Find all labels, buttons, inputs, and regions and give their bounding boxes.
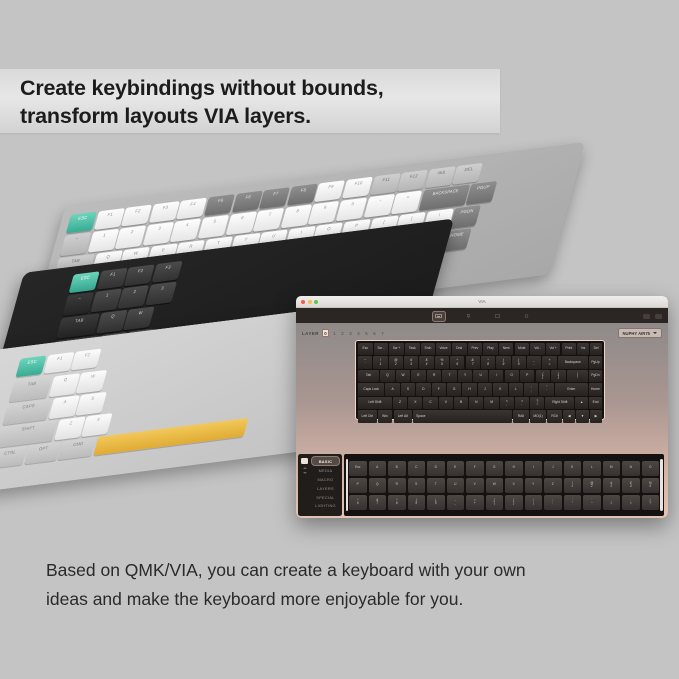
expand-button[interactable] (655, 314, 662, 319)
via-body: LAYER 0 1 2 3 4 5 6 7 NUPHY AIR75 Esc Sc… (296, 323, 668, 518)
pkey-y[interactable]: Y (525, 478, 543, 493)
key-9: 9 (308, 201, 340, 225)
key-tab-front: TAB (9, 377, 53, 403)
picker-row-1: Esc A B C D E F G H I J K L M N O (349, 461, 659, 476)
vkey-right-alt[interactable]: RAlt (513, 410, 529, 422)
vkey-u[interactable]: U (473, 370, 487, 382)
key-f6: F6 (231, 191, 262, 213)
via-sidebar[interactable]: BASIC MEDIA MACRO LAYERS SPECIAL LIGHTIN… (298, 454, 342, 516)
pkey-period[interactable]: .> (622, 495, 640, 510)
pkey-quote[interactable]: '" (564, 495, 582, 510)
chevron-down-icon (653, 332, 657, 334)
pkey-q[interactable]: Q (369, 478, 387, 493)
key-a-front: A (48, 395, 80, 419)
key-4: 4 (170, 218, 202, 242)
caption-line-2: ideas and make the keyboard more enjoyab… (46, 585, 646, 614)
caption-text: Based on QMK/VIA, you can create a keybo… (46, 556, 646, 614)
sidebar-item-basic[interactable]: BASIC (311, 456, 340, 466)
key-1-black: 1 (90, 289, 122, 313)
key-esc-front: ESC (15, 355, 46, 377)
vkey-7[interactable]: &7 (466, 356, 480, 368)
via-toolbar (296, 308, 668, 324)
pkey-r[interactable]: R (388, 478, 406, 493)
window-title: VIA (296, 299, 668, 304)
vkey-del[interactable]: Del (590, 343, 602, 355)
vkey-w[interactable]: W (396, 370, 410, 382)
vkey-backslash[interactable]: |\ (567, 370, 588, 382)
vkb-row-bottom: Left Ctrl Win Left Alt Space RAlt MO(1) … (358, 410, 602, 422)
key-ctrl-front: CTRL (0, 446, 27, 469)
key-space-front (93, 418, 248, 456)
vkey-pgdn[interactable]: PgDn (589, 370, 602, 382)
pkey-p[interactable]: P (349, 478, 367, 493)
vkey-6[interactable]: ^6 (450, 356, 464, 368)
key-2-black: 2 (117, 285, 149, 309)
pkey-f[interactable]: F (466, 461, 484, 476)
lightbulb-icon[interactable] (463, 312, 475, 321)
keyboard-select-dropdown[interactable]: NUPHY AIR75 (618, 328, 662, 338)
vkey-z[interactable]: Z (393, 397, 407, 409)
vkey-esc[interactable]: Esc (358, 343, 373, 355)
vkey-2[interactable]: @2 (389, 356, 403, 368)
vkey-task[interactable]: Task (405, 343, 420, 355)
vkey-end[interactable]: End (589, 397, 602, 409)
layer-option-2[interactable]: 2 (340, 330, 345, 336)
vkey-backspace[interactable]: Backspace (558, 356, 588, 368)
picker-row-2: P Q R S T U V W X Y Z !1 @2 #3 $4 %5 (349, 478, 659, 493)
vkey-f[interactable]: F (432, 383, 446, 395)
minimize-button[interactable] (643, 314, 650, 319)
keyboard-select-value: NUPHY AIR75 (623, 331, 650, 336)
layer-option-1[interactable]: 1 (332, 330, 337, 336)
pkey-x[interactable]: X (505, 478, 523, 493)
sidebar-rail (300, 456, 309, 514)
pkey-7[interactable]: &7 (369, 495, 387, 510)
pkey-m[interactable]: M (603, 461, 621, 476)
vkey-k[interactable]: K (493, 383, 507, 395)
keyboard-icon[interactable] (432, 311, 446, 322)
picker-row-3: ^6 &7 *8 (9 )0 -_ =+ [{ ]} \| ;: '" `~ ,… (349, 495, 659, 510)
pkey-semicolon[interactable]: ;: (544, 495, 562, 510)
via-titlebar: VIA (296, 296, 668, 308)
caption-line-1: Based on QMK/VIA, you can create a keybo… (46, 556, 646, 585)
picker-scroll-left[interactable] (346, 459, 348, 511)
key-5: 5 (198, 215, 230, 239)
vkey-home[interactable]: Home (589, 383, 602, 395)
vkey-tilde[interactable]: ~` (358, 356, 372, 368)
pkey-0[interactable]: )0 (427, 495, 445, 510)
vkey-prev[interactable]: Prev (468, 343, 483, 355)
vkey-g[interactable]: G (447, 383, 461, 395)
pkey-z[interactable]: Z (544, 478, 562, 493)
pkey-o[interactable]: O (642, 461, 660, 476)
vkey-ins[interactable]: Ins (577, 343, 589, 355)
vkey-rbracket[interactable]: }] (551, 370, 565, 382)
layer-option-3[interactable]: 3 (348, 330, 353, 336)
vkey-minus[interactable]: _- (527, 356, 541, 368)
layer-option-0[interactable]: 0 (322, 329, 329, 337)
vkey-h[interactable]: H (462, 383, 476, 395)
key-ins: INS (425, 166, 456, 188)
vkey-quote[interactable]: "' (539, 383, 553, 395)
key-s-front: S (75, 392, 107, 416)
pkey-esc[interactable]: Esc (349, 461, 367, 476)
key-f11: F11 (369, 173, 400, 195)
vkey-enter[interactable]: Enter (555, 383, 588, 395)
vkey-srch[interactable]: Srch (421, 343, 436, 355)
sidebar-item-special[interactable]: SPECIAL (311, 493, 340, 501)
vkey-c[interactable]: C (423, 397, 437, 409)
vkey-right-arrow[interactable]: ▶ (590, 410, 602, 422)
key-q-black: Q (96, 310, 128, 334)
pkey-u[interactable]: U (447, 478, 465, 493)
key-7: 7 (253, 208, 285, 232)
sidebar-item-lighting[interactable]: LIGHTING (311, 502, 340, 510)
pkey-lbracket[interactable]: [{ (486, 495, 504, 510)
pkey-v[interactable]: V (466, 478, 484, 493)
pkey-a[interactable]: A (369, 461, 387, 476)
vkb-row-home: Caps Lock A S D F G H J K L :; "' Enter … (358, 383, 602, 395)
vkey-5[interactable]: %5 (435, 356, 449, 368)
key-8: 8 (280, 204, 312, 228)
pkey-8[interactable]: *8 (388, 495, 406, 510)
pkey-minus[interactable]: -_ (447, 495, 465, 510)
pkey-6[interactable]: ^6 (349, 495, 367, 510)
vkey-tab[interactable]: Tab (358, 370, 379, 382)
vkey-e[interactable]: E (411, 370, 425, 382)
key-opt-front: OPT (24, 442, 61, 465)
key-f10: F10 (342, 177, 373, 199)
key-w-front: W (76, 370, 108, 394)
headline-line-1: Create keybindings without bounds, (20, 75, 490, 103)
vkey-win[interactable]: Win (378, 410, 393, 422)
pkey-4[interactable]: $4 (622, 478, 640, 493)
vkey-comma[interactable]: <, (500, 397, 514, 409)
layer-option-6[interactable]: 6 (372, 330, 377, 336)
vkb-row-shift: Left Shift Z X C V B N M <, >. ?/ Right … (358, 397, 602, 409)
vkey-j[interactable]: J (478, 383, 492, 395)
vkey-b[interactable]: B (454, 397, 468, 409)
vkey-period[interactable]: >. (515, 397, 529, 409)
virtual-keyboard[interactable]: Esc Scr - Scr + Task Srch Voice Dnd Prev… (355, 340, 605, 420)
vkey-left-alt[interactable]: Left Alt (394, 410, 413, 422)
layer-option-7[interactable]: 7 (380, 330, 385, 336)
key-f2-front: F2 (71, 348, 102, 370)
keyboard-tab-icon[interactable] (301, 458, 308, 464)
vkey-m[interactable]: M (484, 397, 498, 409)
vkey-p[interactable]: P (520, 370, 534, 382)
pkey-5[interactable]: %5 (642, 478, 660, 493)
key-f12: F12 (397, 170, 428, 192)
pkey-k[interactable]: K (564, 461, 582, 476)
key-f9: F9 (314, 180, 345, 202)
vkey-print[interactable]: Print (562, 343, 577, 355)
vkey-n[interactable]: N (469, 397, 483, 409)
vkey-play[interactable]: Play (483, 343, 498, 355)
vkey-4[interactable]: $4 (419, 356, 433, 368)
sidebar-item-macro[interactable]: MACRO (311, 476, 340, 484)
key-cmd-front: CMD (57, 437, 96, 460)
pkey-i[interactable]: I (525, 461, 543, 476)
key-equal: = (391, 190, 423, 214)
key-3-black: 3 (145, 282, 177, 306)
key-tab-black: TAB (56, 313, 100, 339)
vkey-vol-up[interactable]: Vol + (546, 343, 561, 355)
key-f3: F3 (149, 201, 180, 223)
vkey-left-arrow[interactable]: ◀ (563, 410, 575, 422)
pkey-g[interactable]: G (486, 461, 504, 476)
key-f7: F7 (259, 187, 290, 209)
vkey-lbracket[interactable]: {[ (536, 370, 550, 382)
vkey-caps-lock[interactable]: Caps Lock (358, 383, 384, 395)
pkey-rbracket[interactable]: ]} (505, 495, 523, 510)
pkey-c[interactable]: C (408, 461, 426, 476)
vkey-scr-up[interactable]: Scr + (389, 343, 404, 355)
pkey-backslash[interactable]: \| (525, 495, 543, 510)
key-z-front: Z (54, 417, 86, 441)
pkey-b[interactable]: B (388, 461, 406, 476)
key-f4: F4 (176, 198, 207, 220)
key-3: 3 (142, 222, 174, 246)
key-2: 2 (115, 225, 147, 249)
key-esc: ESC (66, 212, 97, 234)
vkey-l[interactable]: L (509, 383, 523, 395)
key-0: 0 (336, 197, 368, 221)
vkey-1[interactable]: !1 (373, 356, 387, 368)
key-pgdn: PGDN (450, 205, 482, 229)
pkey-d[interactable]: D (427, 461, 445, 476)
sidebar-menu: BASIC MEDIA MACRO LAYERS SPECIAL LIGHTIN… (309, 456, 340, 514)
key-f2: F2 (121, 205, 152, 227)
pkey-2[interactable]: @2 (583, 478, 601, 493)
vkey-equal[interactable]: += (542, 356, 556, 368)
pkey-w[interactable]: W (486, 478, 504, 493)
key-f5: F5 (204, 194, 235, 216)
vkey-next[interactable]: Next (499, 343, 514, 355)
via-app-window[interactable]: VIA LAYER 0 1 (296, 296, 668, 518)
vkey-up-arrow[interactable]: ▲ (575, 397, 588, 409)
vkey-i[interactable]: I (489, 370, 503, 382)
scroll-down-icon[interactable] (303, 472, 307, 474)
toolbar-right-buttons (643, 314, 662, 319)
vkey-o[interactable]: O (505, 370, 519, 382)
headline-text: Create keybindings without bounds, trans… (20, 75, 490, 131)
vkey-d[interactable]: D (416, 383, 430, 395)
key-minus: - (363, 194, 395, 218)
vkey-down-arrow[interactable]: ▼ (576, 410, 588, 422)
pkey-slash[interactable]: /? (642, 495, 660, 510)
key-6: 6 (225, 211, 257, 235)
vkey-s[interactable]: S (401, 383, 415, 395)
key-f2-black: F2 (124, 264, 155, 286)
vkey-3[interactable]: #3 (404, 356, 418, 368)
vkey-mo1[interactable]: MO(1) (530, 410, 546, 422)
vkey-mute[interactable]: Mute (515, 343, 530, 355)
pkey-3[interactable]: #3 (603, 478, 621, 493)
sidebar-item-layers[interactable]: LAYERS (311, 484, 340, 492)
vkey-dnd[interactable]: Dnd (452, 343, 467, 355)
vkey-a[interactable]: A (385, 383, 399, 395)
vkey-left-shift[interactable]: Left Shift (358, 397, 392, 409)
key-f3-black: F3 (151, 261, 182, 283)
key-f1-black: F1 (96, 268, 127, 290)
vkey-r[interactable]: R (427, 370, 441, 382)
pkey-n[interactable]: N (622, 461, 640, 476)
pkey-grave[interactable]: `~ (583, 495, 601, 510)
vkey-v[interactable]: V (439, 397, 453, 409)
layer-option-4[interactable]: 4 (356, 330, 361, 336)
settings-icon[interactable] (521, 312, 533, 321)
pkey-1[interactable]: !1 (564, 478, 582, 493)
vkey-right-ctrl[interactable]: RCtl (547, 410, 562, 422)
pkey-h[interactable]: H (505, 461, 523, 476)
vkey-t[interactable]: T (442, 370, 456, 382)
vkey-y[interactable]: Y (458, 370, 472, 382)
product-marketing-image: ESC F1 F2 F3 F4 F5 F6 F7 F8 F9 F10 F11 F… (0, 0, 679, 679)
key-esc-black: ESC (69, 271, 100, 293)
pkey-9[interactable]: (9 (408, 495, 426, 510)
key-tilde-black: ~ (62, 292, 94, 316)
vkey-vol-down[interactable]: Vol - (530, 343, 545, 355)
pkey-j[interactable]: J (544, 461, 562, 476)
headline-line-2: transform layouts VIA layers. (20, 103, 490, 131)
vkey-scr-down[interactable]: Scr - (374, 343, 389, 355)
vkey-slash[interactable]: ?/ (530, 397, 544, 409)
pkey-e[interactable]: E (447, 461, 465, 476)
vkey-9[interactable]: (9 (496, 356, 510, 368)
vkey-q[interactable]: Q (380, 370, 394, 382)
pkey-s[interactable]: S (408, 478, 426, 493)
key-del: DEL (452, 163, 483, 185)
save-icon[interactable] (492, 312, 504, 321)
vkey-8[interactable]: *8 (481, 356, 495, 368)
layer-option-5[interactable]: 5 (364, 330, 369, 336)
vkey-left-ctrl[interactable]: Left Ctrl (358, 410, 377, 422)
key-f1-front: F1 (43, 352, 74, 374)
sidebar-item-media[interactable]: MEDIA (311, 467, 340, 475)
pkey-l[interactable]: L (583, 461, 601, 476)
keycode-picker[interactable]: Esc A B C D E F G H I J K L M N O (344, 454, 664, 516)
vkey-voice[interactable]: Voice (436, 343, 451, 355)
vkey-0[interactable]: )0 (512, 356, 526, 368)
vkey-right-shift[interactable]: Right Shift (545, 397, 574, 409)
key-f1: F1 (93, 208, 124, 230)
key-f8: F8 (287, 184, 318, 206)
vkb-row-fn: Esc Scr - Scr + Task Srch Voice Dnd Prev… (358, 343, 602, 355)
key-w-black: W (123, 306, 155, 330)
vkb-row-num: ~` !1 @2 #3 $4 %5 ^6 &7 *8 (9 )0 _- += B… (358, 356, 602, 368)
vkey-space[interactable]: Space (413, 410, 512, 422)
key-pgup: PGUP (466, 181, 498, 205)
picker-scroll-right[interactable] (660, 459, 662, 511)
layer-selector[interactable]: LAYER 0 1 2 3 4 5 6 7 (302, 329, 385, 337)
key-tilde: ~ (60, 232, 92, 256)
pkey-comma[interactable]: ,< (603, 495, 621, 510)
headline-banner: Create keybindings without bounds, trans… (0, 69, 500, 133)
key-1: 1 (87, 229, 119, 253)
scroll-up-icon[interactable] (303, 467, 307, 469)
key-q-front: Q (48, 373, 80, 397)
pkey-equal[interactable]: =+ (466, 495, 484, 510)
vkey-semicolon[interactable]: :; (524, 383, 538, 395)
key-x-front: X (81, 413, 113, 437)
vkey-pgup[interactable]: PgUp (589, 356, 602, 368)
pkey-t[interactable]: T (427, 478, 445, 493)
vkey-x[interactable]: X (408, 397, 422, 409)
vkb-row-qwerty: Tab Q W E R T Y U I O P {[ }] |\ PgDn (358, 370, 602, 382)
layer-label: LAYER (302, 331, 319, 336)
